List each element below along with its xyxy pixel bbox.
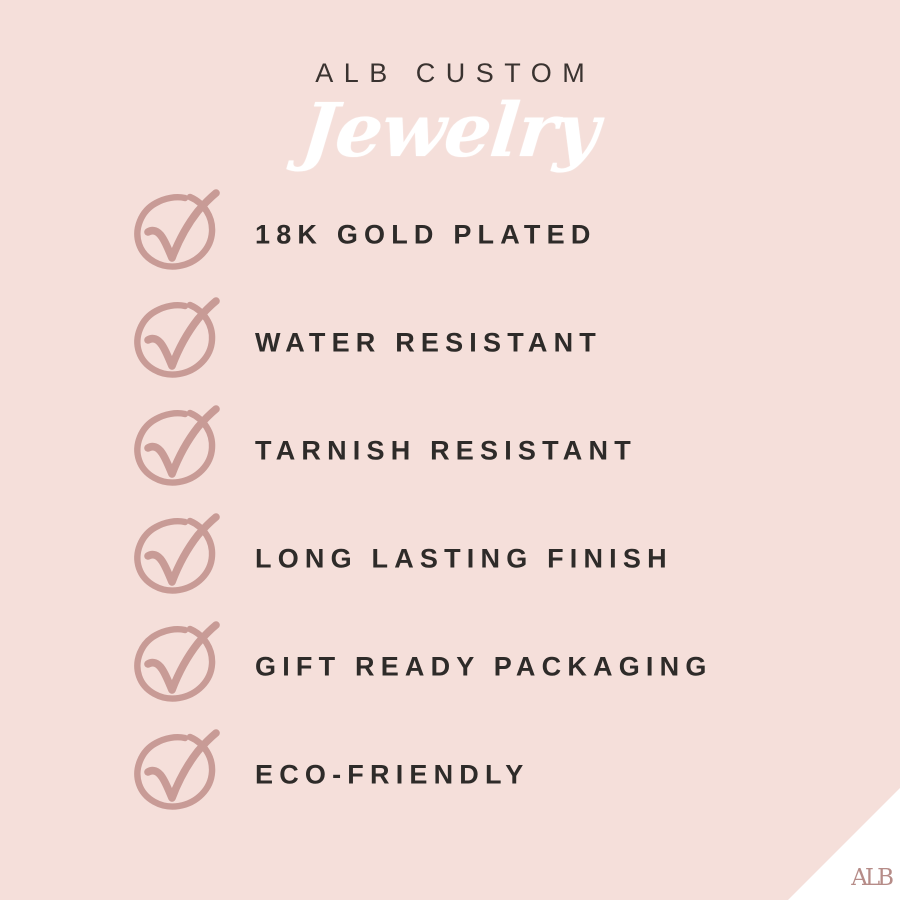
hand-drawn-circle-check-icon [118, 716, 236, 834]
feature-row: GIFT READY PACKAGING [0, 613, 900, 721]
feature-row: ECO-FRIENDLY [0, 721, 900, 829]
feature-label: TARNISH RESISTANT [255, 438, 637, 465]
feature-label: LONG LASTING FINISH [255, 546, 673, 573]
feature-label: 18K GOLD PLATED [255, 222, 597, 249]
feature-label: ECO-FRIENDLY [255, 762, 529, 789]
feature-label: GIFT READY PACKAGING [255, 654, 713, 681]
feature-row: WATER RESISTANT [0, 289, 900, 397]
hand-drawn-circle-check-icon [118, 176, 236, 294]
feature-row: LONG LASTING FINISH [0, 505, 900, 613]
feature-label: WATER RESISTANT [255, 330, 602, 357]
script-headline: Jewelry [0, 94, 900, 168]
feature-list: 18K GOLD PLATED WATER RESISTANT [0, 181, 900, 829]
brand-name: ALB CUSTOM [0, 60, 900, 87]
hand-drawn-circle-check-icon [118, 392, 236, 510]
feature-row: 18K GOLD PLATED [0, 181, 900, 289]
hand-drawn-circle-check-icon [118, 284, 236, 402]
feature-row: TARNISH RESISTANT [0, 397, 900, 505]
hand-drawn-circle-check-icon [118, 500, 236, 618]
poster-header: ALB CUSTOM Jewelry [0, 0, 900, 168]
hand-drawn-circle-check-icon [118, 608, 236, 726]
alb-monogram-logo: ALB [851, 867, 891, 890]
promo-poster: ALB CUSTOM Jewelry 18K GOLD PLATED [0, 0, 900, 900]
